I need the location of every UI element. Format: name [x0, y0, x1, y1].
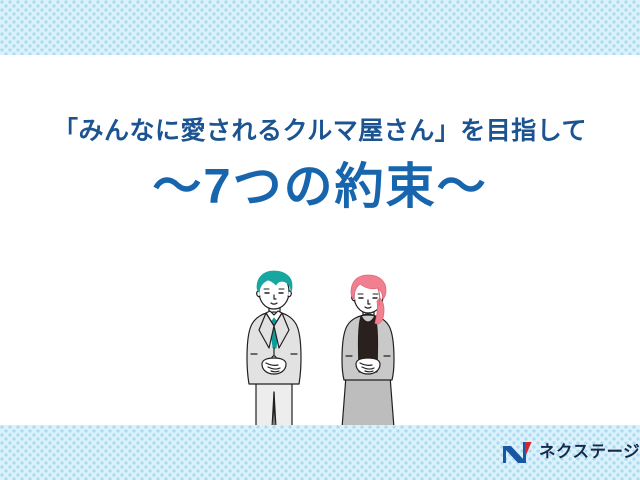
headline-subtitle: 「みんなに愛されるクルマ屋さん」を目指して [0, 118, 640, 146]
heading-block: 「みんなに愛されるクルマ屋さん」を目指して 〜7つの約束〜 [0, 118, 640, 213]
staff-illustration [228, 268, 428, 428]
headline-title: 〜7つの約束〜 [0, 162, 640, 213]
dotted-band-top [0, 0, 640, 55]
staff-illustration-svg [228, 268, 428, 428]
nextage-logo: ネクステージ [502, 441, 640, 464]
female-skirt [342, 376, 394, 428]
female-staff-figure [342, 275, 394, 428]
male-staff-figure [247, 271, 301, 428]
promise-banner: 「みんなに愛されるクルマ屋さん」を目指して 〜7つの約束〜 [0, 0, 640, 480]
nextage-n-mark-icon [502, 441, 532, 464]
nextage-logo-text: ネクステージ [539, 444, 640, 461]
